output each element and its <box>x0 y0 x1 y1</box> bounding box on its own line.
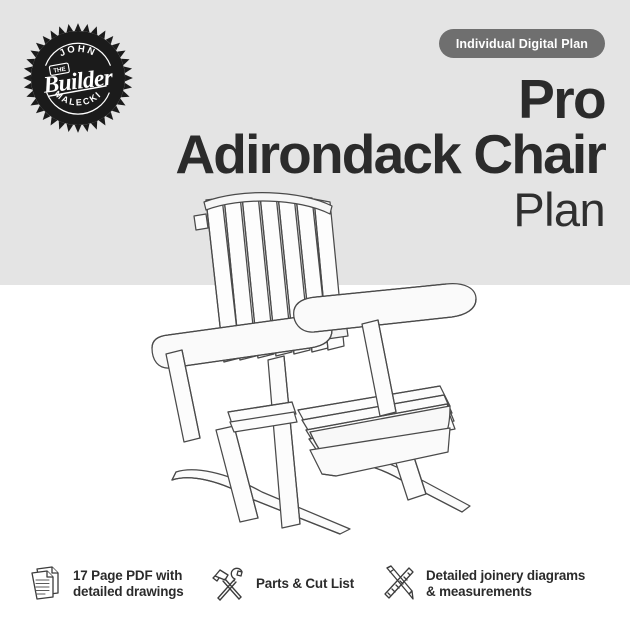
pencil-ruler-icon <box>379 564 417 604</box>
chair-illustration <box>150 188 490 540</box>
feature-label-parts: Parts & Cut List <box>256 576 354 592</box>
tools-icon <box>211 566 247 602</box>
feature-item-joinery: Detailed joinery diagrams & measurements <box>379 564 585 604</box>
feature-label-joinery: Detailed joinery diagrams & measurements <box>426 568 585 601</box>
feature-strip: 17 Page PDF with detailed drawings <box>0 554 630 614</box>
title-line-pro: Pro <box>19 74 605 125</box>
feature-item-parts: Parts & Cut List <box>211 566 354 602</box>
status-badge-label: Individual Digital Plan <box>456 37 588 51</box>
feature-item-pdf: 17 Page PDF with detailed drawings <box>28 564 184 604</box>
status-badge: Individual Digital Plan <box>439 29 605 58</box>
title-line-main: Adirondack Chair <box>19 125 605 184</box>
adirondack-rocking-chair-icon <box>152 193 476 534</box>
product-cover: JOHN THE Builder MALECKI <box>0 0 630 630</box>
feature-label-pdf: 17 Page PDF with detailed drawings <box>73 568 184 601</box>
documents-icon <box>28 564 64 604</box>
